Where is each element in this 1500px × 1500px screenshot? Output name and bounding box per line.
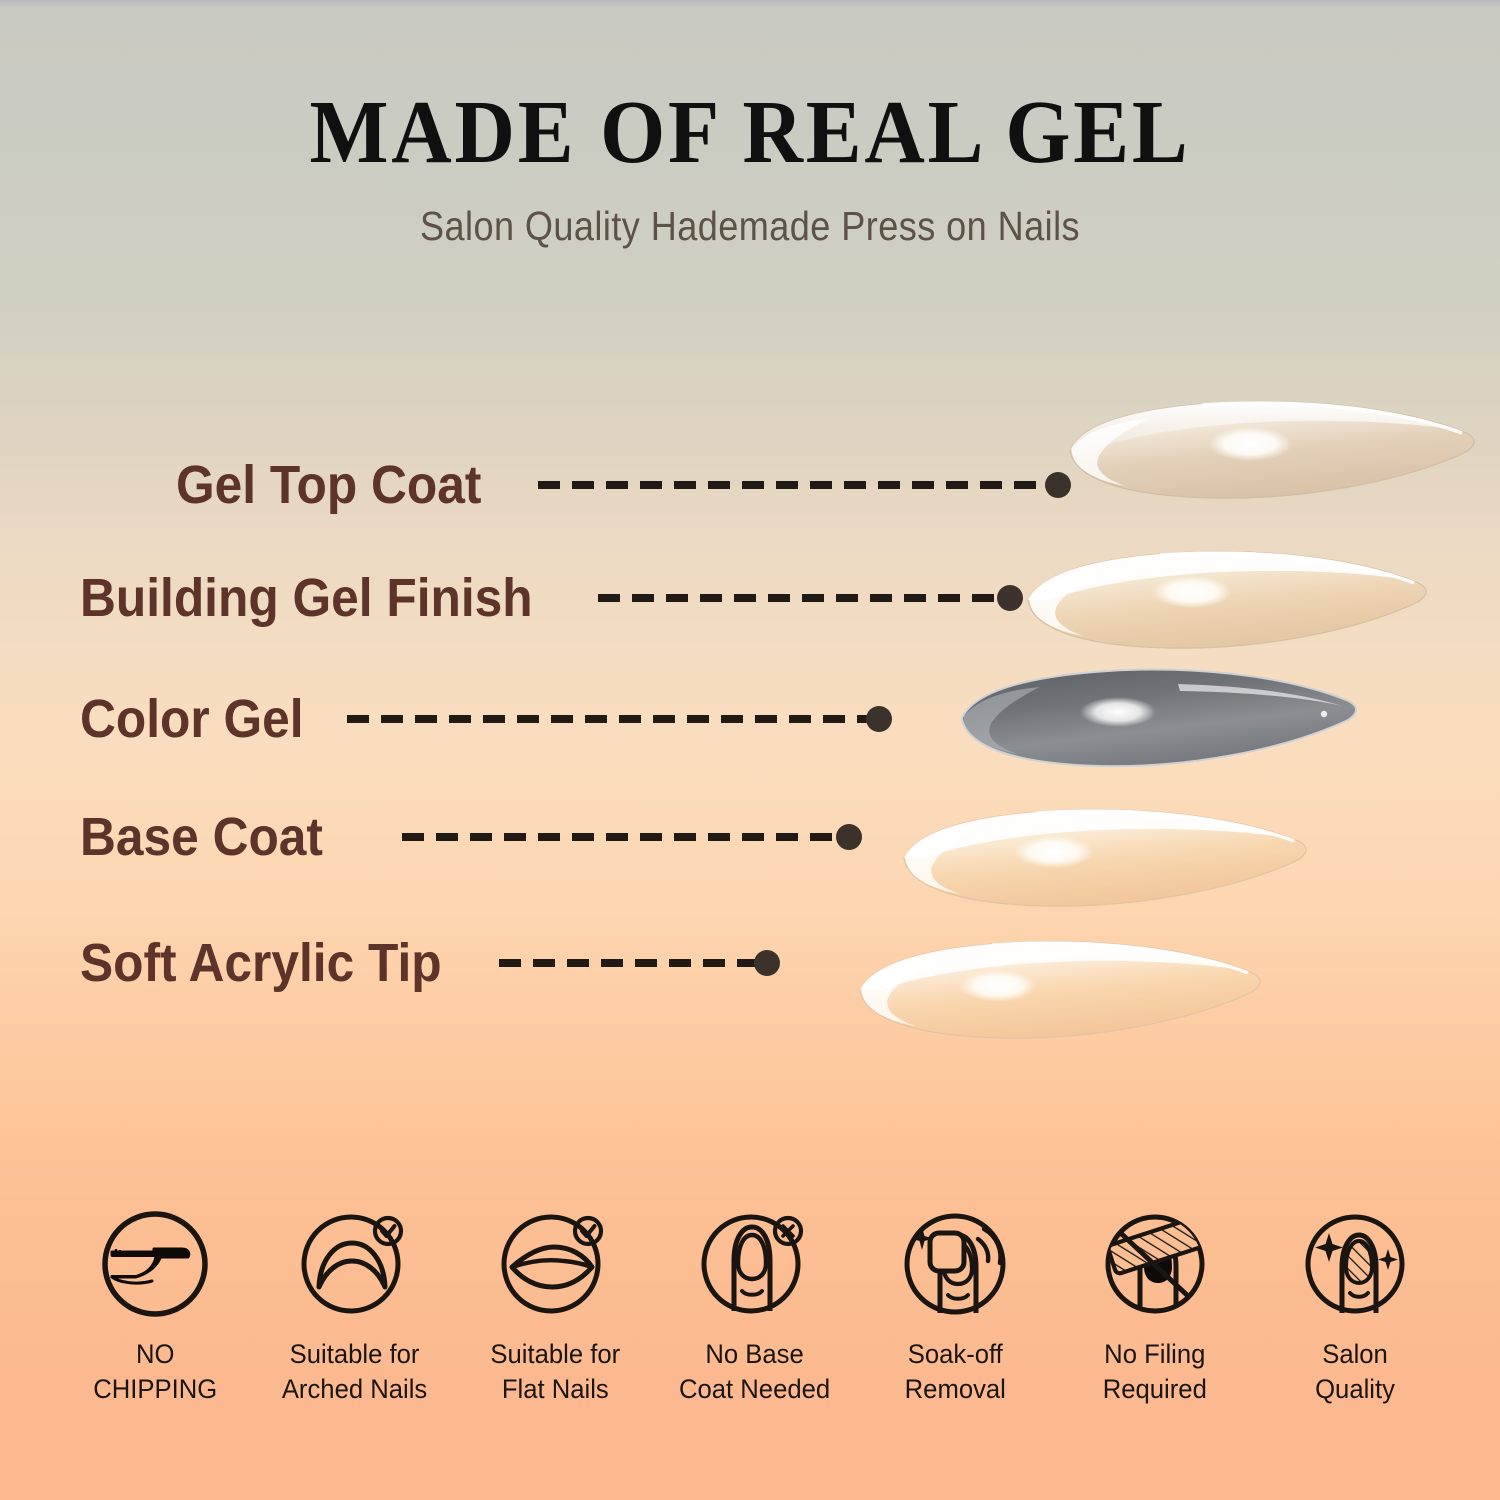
layer-label: Color Gel <box>80 692 304 746</box>
feature-label-line-2: Coat Needed <box>679 1372 830 1407</box>
feature-no-base-coat: No Base Coat Needed <box>660 1205 850 1406</box>
feature-no-chipping: NO CHIPPING <box>60 1205 250 1406</box>
leader-dashes <box>538 481 1058 489</box>
salon-quality-icon <box>1296 1205 1414 1323</box>
nail-layer-soft-acrylic-tip <box>846 930 1266 1048</box>
nail-layer-base-coat <box>888 798 1312 916</box>
feature-label-line-1: Soak-off <box>904 1337 1005 1372</box>
nail-layer-gel-top-coat <box>1052 388 1482 508</box>
soak-off-removal-icon <box>896 1205 1014 1323</box>
feature-label-line-2: Flat Nails <box>490 1372 620 1407</box>
layer-row-building-gel-finish: Building Gel Finish <box>80 563 1010 633</box>
feature-label-line-1: No Base <box>679 1337 830 1372</box>
feature-label: NO CHIPPING <box>93 1337 217 1406</box>
feature-label-line-2: Required <box>1103 1372 1207 1407</box>
feature-label-line-1: NO <box>93 1337 217 1372</box>
feature-label-line-1: Salon <box>1315 1337 1395 1372</box>
feature-soak-off-removal: Soak-off Removal <box>860 1205 1050 1406</box>
feature-label-line-2: Removal <box>904 1372 1005 1407</box>
layer-label: Soft Acrylic Tip <box>80 936 442 990</box>
no-filing-icon <box>1096 1205 1214 1323</box>
leader-endpoint-dot <box>836 824 862 850</box>
layer-label: Gel Top Coat <box>176 458 481 512</box>
layer-row-gel-top-coat: Gel Top Coat <box>176 450 1058 520</box>
no-chipping-icon <box>96 1205 214 1323</box>
layer-label: Base Coat <box>80 810 323 864</box>
leader-line <box>499 959 767 967</box>
leader-dashes <box>598 594 1010 602</box>
page-title: MADE OF REAL GEL <box>53 88 1448 178</box>
nail-layer-color-gel <box>948 662 1360 774</box>
layer-row-color-gel: Color Gel <box>80 684 879 754</box>
arched-nail-check-icon <box>296 1205 414 1323</box>
leader-dashes <box>347 715 879 723</box>
feature-arched-nails: Suitable for Arched Nails <box>260 1205 450 1406</box>
leader-line <box>538 481 1058 489</box>
leader-endpoint-dot <box>997 585 1023 611</box>
leader-line <box>347 715 879 723</box>
page-subtitle: Salon Quality Hademade Press on Nails <box>90 206 1410 247</box>
feature-label: Soak-off Removal <box>904 1337 1005 1406</box>
feature-label: No Base Coat Needed <box>679 1337 830 1406</box>
feature-salon-quality: Salon Quality <box>1260 1205 1450 1406</box>
layer-label: Building Gel Finish <box>80 571 533 625</box>
feature-label-line-2: CHIPPING <box>93 1372 217 1407</box>
feature-label: Suitable for Flat Nails <box>490 1337 620 1406</box>
feature-label-line-1: No Filing <box>1103 1337 1207 1372</box>
feature-label-line-1: Suitable for <box>490 1337 620 1372</box>
leader-endpoint-dot <box>866 706 892 732</box>
feature-label: Salon Quality <box>1315 1337 1395 1406</box>
leader-endpoint-dot <box>1045 472 1071 498</box>
leader-line <box>598 594 1010 602</box>
infographic-canvas: MADE OF REAL GEL Salon Quality Hademade … <box>0 0 1500 1500</box>
leader-endpoint-dot <box>754 950 780 976</box>
feature-flat-nails: Suitable for Flat Nails <box>460 1205 650 1406</box>
leader-dashes <box>402 833 849 841</box>
leader-line <box>402 833 849 841</box>
no-base-coat-icon <box>696 1205 814 1323</box>
feature-label-line-1: Suitable for <box>282 1337 427 1372</box>
nail-layer-building-gel-finish <box>1012 540 1432 658</box>
layer-row-soft-acrylic-tip: Soft Acrylic Tip <box>80 928 767 998</box>
feature-label: Suitable for Arched Nails <box>282 1337 427 1406</box>
feature-no-filing: No Filing Required <box>1060 1205 1250 1406</box>
feature-label: No Filing Required <box>1103 1337 1207 1406</box>
leader-dashes <box>499 959 767 967</box>
feature-row: NO CHIPPING Suitable for Arched Nails <box>60 1205 1450 1406</box>
feature-label-line-2: Arched Nails <box>282 1372 427 1407</box>
layer-row-base-coat: Base Coat <box>80 802 849 872</box>
feature-label-line-2: Quality <box>1315 1372 1395 1407</box>
flat-nail-check-icon <box>496 1205 614 1323</box>
